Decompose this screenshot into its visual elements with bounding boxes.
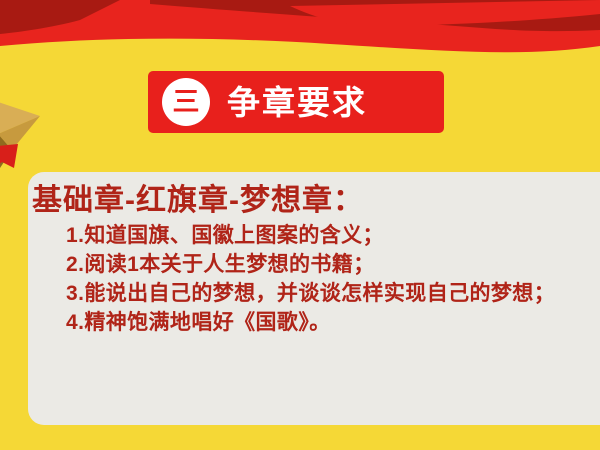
section-number-label: 三 bbox=[173, 89, 200, 116]
top-ribbon-decoration bbox=[0, 0, 600, 70]
section-number-badge: 三 bbox=[162, 78, 210, 126]
content-card: 基础章-红旗章-梦想章： 1.知道国旗、国徽上图案的含义； 2.阅读1本关于人生… bbox=[28, 172, 600, 425]
section-banner: 三 争章要求 bbox=[148, 71, 444, 133]
section-title: 争章要求 bbox=[227, 86, 367, 119]
list-item: 2.阅读1本关于人生梦想的书籍； bbox=[32, 251, 600, 280]
gold-star-ornament: 四 bbox=[0, 88, 56, 180]
requirements-list: 1.知道国旗、国徽上图案的含义； 2.阅读1本关于人生梦想的书籍； 3.能说出自… bbox=[32, 222, 600, 337]
list-item: 4.精神饱满地唱好《国歌》。 bbox=[32, 309, 600, 338]
poster-canvas: 四 三 争章要求 基础章-红旗章-梦想章： 1.知道国旗、国徽上图案的含义； 2… bbox=[0, 0, 600, 450]
list-item: 3.能说出自己的梦想，并谈谈怎样实现自己的梦想； bbox=[32, 280, 600, 309]
list-item: 1.知道国旗、国徽上图案的含义； bbox=[32, 222, 600, 251]
card-heading: 基础章-红旗章-梦想章： bbox=[32, 182, 600, 220]
